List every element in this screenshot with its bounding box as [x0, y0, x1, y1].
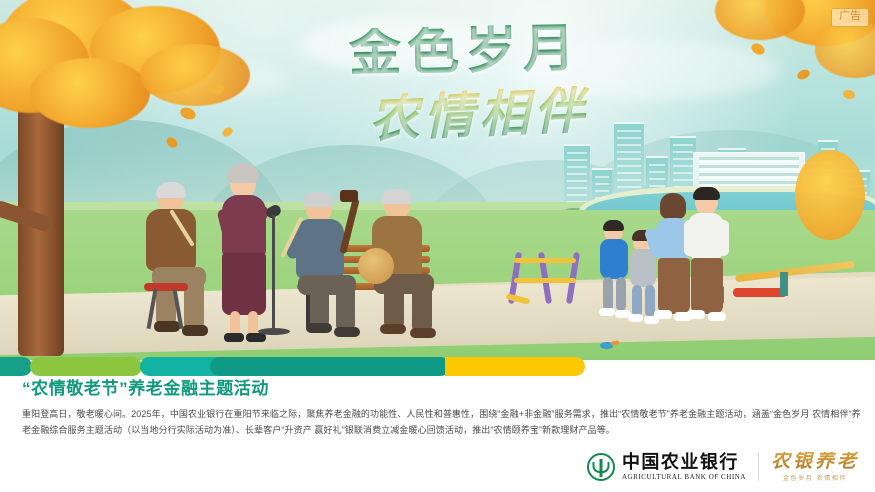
pipa-body — [358, 248, 394, 284]
ad-badge: 广告 — [831, 8, 869, 27]
microphone-stand — [272, 215, 275, 333]
strip-segment-teal — [140, 357, 210, 376]
trousers — [691, 258, 723, 314]
footer-logo-group: 中国农业银行 AGRICULTURAL BANK OF CHINA 农银养老 金… — [587, 452, 859, 482]
adult-man — [684, 190, 730, 336]
bank-name-cn: 中国农业银行 — [622, 453, 746, 471]
copy-block: “农情敬老节”养老金融主题活动 重阳登高日，敬老暖心间。2025年，中国农业银行… — [22, 378, 862, 439]
seesaw-pivot — [780, 272, 788, 296]
autumn-foliage — [0, 0, 300, 178]
strip-segment-dark-teal — [210, 357, 450, 376]
color-divider-strip — [0, 357, 875, 376]
abc-bank-logo: 中国农业银行 AGRICULTURAL BANK OF CHINA — [587, 453, 746, 481]
elderly-flute-player-left — [140, 185, 220, 350]
title-line-1: 金色岁月 — [299, 23, 630, 82]
elderly-pipa-player — [362, 192, 452, 352]
bank-name-en: AGRICULTURAL BANK OF CHINA — [622, 474, 746, 481]
pipa-head — [340, 190, 358, 202]
autumn-tree-right — [795, 150, 865, 240]
pension-brand-cn: 农银养老 — [771, 452, 859, 471]
hero-title: 金色岁月 农情相伴 — [300, 26, 630, 140]
skirt — [222, 253, 266, 315]
strip-segment-teal-cap — [0, 357, 32, 376]
bird-icon — [600, 340, 618, 350]
title-line-2: 农情相伴 — [327, 84, 631, 147]
body-paragraph: 重阳登高日，敬老暖心间。2025年，中国农业银行在重阳节来临之际，聚焦养老金融的… — [22, 407, 862, 439]
abc-emblem-icon — [587, 453, 615, 481]
pension-brand-sub: 金色岁月 农情相伴 — [771, 476, 859, 482]
advertisement-banner: 中国农业银行 AGRICULTURAL BANK OF CHINA — [0, 0, 875, 492]
seesaw-seat — [733, 288, 787, 297]
stool — [144, 283, 188, 291]
pension-brand-logo: 农银养老 金色岁月 农情相伴 — [771, 452, 859, 482]
climbing-frame — [512, 252, 584, 308]
strip-segment-light-green — [30, 357, 142, 376]
strip-segment-yellow — [445, 357, 585, 376]
microphone-base — [258, 328, 290, 335]
hero-illustration: 中国农业银行 AGRICULTURAL BANK OF CHINA — [0, 0, 875, 360]
logo-divider — [758, 453, 759, 481]
headline: “农情敬老节”养老金融主题活动 — [22, 378, 862, 400]
